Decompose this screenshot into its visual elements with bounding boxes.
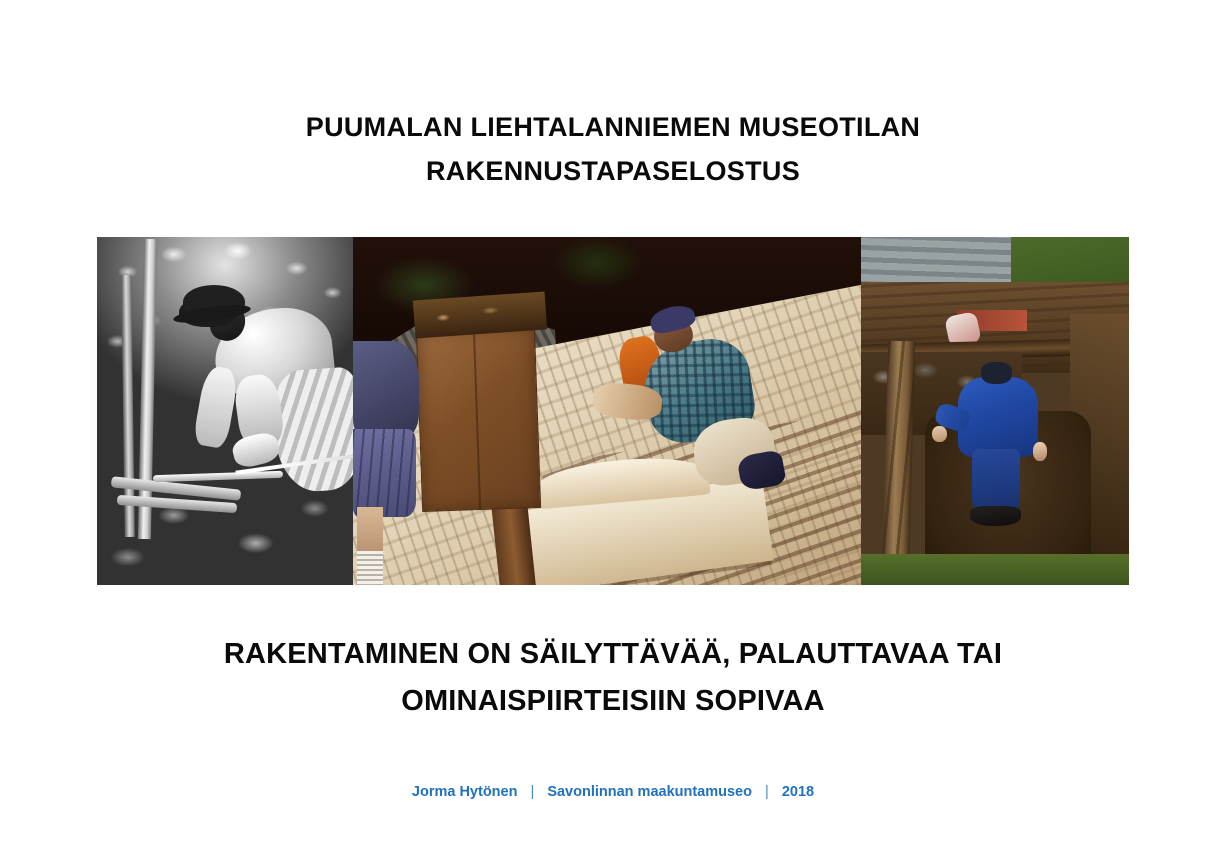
worker-trousers	[271, 366, 353, 494]
worker-cap-icon	[981, 362, 1012, 384]
bystander-figure	[353, 341, 419, 585]
brimmed-hat-icon	[183, 285, 245, 319]
excavation-scene	[861, 237, 1129, 585]
title-line-1: PUUMALAN LIEHTALANNIEMEN MUSEOTILAN	[0, 105, 1226, 149]
worker-hand	[1033, 442, 1047, 460]
footer-separator: |	[756, 784, 778, 800]
excavation-worker-figure	[952, 362, 1043, 529]
bystander-top	[353, 341, 419, 438]
worker-figure	[163, 279, 349, 509]
shingle-roofing-photo	[353, 237, 861, 585]
hewn-timber-post	[882, 341, 915, 585]
footer-organization: Savonlinnan maakuntamuseo	[547, 784, 752, 800]
worker-left-arm	[192, 365, 239, 450]
roof-scene	[353, 237, 861, 585]
worker-boots	[970, 506, 1021, 526]
panel-seam	[473, 329, 481, 510]
roof-worker-figure	[577, 307, 780, 523]
bystander-shorts	[353, 429, 416, 517]
title-line-2: RAKENNUSTAPASELOSTUS	[0, 149, 1226, 193]
bw-log-hewing-photo	[97, 237, 353, 585]
worker-hands	[230, 430, 282, 470]
footer-year: 2018	[782, 784, 814, 800]
page-subtitle: RAKENTAMINEN ON SÄILYTTÄVÄÄ, PALAUTTAVAA…	[0, 631, 1226, 725]
grass-lower-edge	[861, 554, 1129, 585]
foundation-excavation-photo	[861, 237, 1129, 585]
cover-photo-band	[97, 237, 1129, 585]
document-page: PUUMALAN LIEHTALANNIEMEN MUSEOTILAN RAKE…	[0, 0, 1226, 845]
brown-panel	[416, 325, 541, 512]
subtitle-line-2: OMINAISPIIRTEISIIN SOPIVAA	[0, 678, 1226, 725]
worker-hand	[932, 426, 947, 443]
footer-byline: Jorma Hytönen | Savonlinnan maakuntamuse…	[0, 784, 1226, 800]
subtitle-line-1: RAKENTAMINEN ON SÄILYTTÄVÄÄ, PALAUTTAVAA…	[0, 631, 1226, 678]
footer-separator: |	[522, 784, 544, 800]
bystander-striped-sock	[357, 551, 383, 585]
page-title: PUUMALAN LIEHTALANNIEMEN MUSEOTILAN RAKE…	[0, 105, 1226, 193]
footer-author: Jorma Hytönen	[412, 784, 518, 800]
worker-blue-trousers	[972, 449, 1019, 512]
